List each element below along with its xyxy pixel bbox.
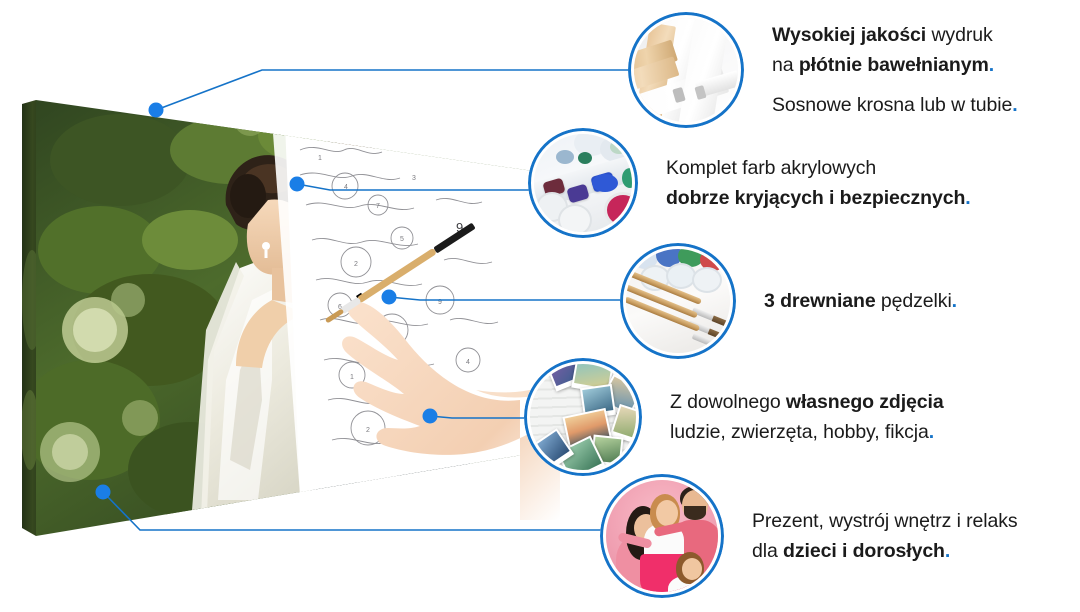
text-bold-2: płótnie bawełnianym: [799, 54, 989, 76]
text-dot-3: .: [965, 187, 970, 209]
text-bold-1: Wysokiej jakości: [772, 24, 926, 46]
text-norm-9: dla: [752, 540, 783, 562]
svg-text:2: 2: [366, 427, 370, 434]
text-dot-4: .: [952, 290, 957, 312]
svg-text:7: 7: [376, 203, 380, 210]
text-norm-4: Komplet farb akrylowych: [666, 157, 876, 179]
product-canvas-illustration: 47 25 63 18 29 46 13 9: [0, 0, 560, 607]
text-norm-7: ludzie, zwierzęta, hobby, fikcja: [670, 421, 929, 443]
feature-acrylic-paints: Komplet farb akrylowych dobrze kryjących…: [528, 128, 971, 238]
text-bold-3: dobrze kryjących i bezpiecznych: [666, 187, 965, 209]
svg-text:1: 1: [350, 374, 354, 381]
feature-text-gift-for-all: Prezent, wystrój wnętrz i relaks dla dzi…: [752, 507, 1018, 565]
infographic-root: 47 25 63 18 29 46 13 9: [0, 0, 1080, 607]
text-dot-5: .: [929, 421, 934, 443]
feature-own-photo: Z dowolnego własnego zdjęcia ludzie, zwi…: [524, 358, 944, 476]
text-dot-6: .: [945, 540, 950, 562]
text-bold-4: 3 drewniane: [764, 290, 876, 312]
wooden-brushes-icon: [620, 243, 736, 359]
svg-text:1: 1: [318, 155, 322, 162]
text-norm-2: na: [772, 54, 799, 76]
text-bold-5: własnego zdjęcia: [786, 391, 944, 413]
text-dot-2: .: [1012, 94, 1017, 116]
text-bold-6: dzieci i dorosłych: [783, 540, 945, 562]
text-norm-1: wydruk: [926, 24, 992, 46]
happy-family-icon: [600, 474, 724, 598]
feature-wooden-brushes: 3 drewniane pędzelki.: [620, 243, 957, 359]
text-norm-5: pędzelki: [876, 290, 952, 312]
feature-quality-print: Wysokiej jakości wydruk na płótnie baweł…: [628, 12, 1018, 128]
canvas-artwork-svg: 47 25 63 18 29 46 13 9: [0, 0, 560, 607]
scattered-photos-icon: [524, 358, 642, 476]
svg-text:3: 3: [412, 175, 416, 182]
text-norm-8: Prezent, wystrój wnętrz i relaks: [752, 510, 1018, 532]
feature-text-own-photo: Z dowolnego własnego zdjęcia ludzie, zwi…: [670, 388, 944, 446]
svg-text:4: 4: [344, 184, 348, 191]
text-norm-3: Sosnowe krosna lub w tubie: [772, 94, 1012, 116]
feature-text-wooden-brushes: 3 drewniane pędzelki.: [764, 287, 957, 315]
svg-text:4: 4: [466, 359, 470, 366]
text-dot-1: .: [989, 54, 994, 76]
svg-text:2: 2: [354, 261, 358, 268]
feature-text-acrylic-paints: Komplet farb akrylowych dobrze kryjących…: [666, 154, 971, 212]
feature-gift-for-all: Prezent, wystrój wnętrz i relaks dla dzi…: [600, 474, 1018, 598]
feature-text-quality-print: Wysokiej jakości wydruk na płótnie baweł…: [772, 21, 1018, 119]
wooden-stretcher-frame-icon: [628, 12, 744, 128]
svg-text:5: 5: [400, 236, 404, 243]
text-norm-6: Z dowolnego: [670, 391, 786, 413]
acrylic-paint-pots-icon: [528, 128, 638, 238]
svg-text:9: 9: [438, 299, 442, 306]
